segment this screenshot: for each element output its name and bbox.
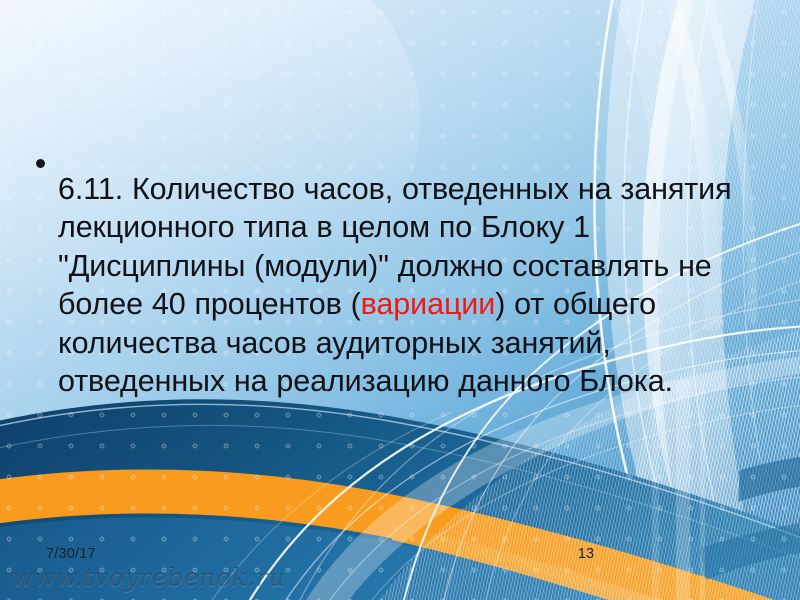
body-paragraph: 6.11. Количество часов, отведенных на за… — [58, 170, 752, 401]
bullet-dot-icon — [36, 159, 45, 168]
highlighted-term: вариации — [361, 287, 496, 321]
watermark-url: www.tvoyrebenok.ru — [12, 563, 285, 592]
footer-page-number: 13 — [560, 546, 612, 562]
bullet-list-item: 6.11. Количество часов, отведенных на за… — [36, 139, 752, 431]
footer-date: 7/30/17 — [46, 546, 96, 562]
presentation-slide: 6.11. Количество часов, отведенных на за… — [0, 0, 800, 600]
slide-body: 6.11. Количество часов, отведенных на за… — [36, 139, 752, 431]
